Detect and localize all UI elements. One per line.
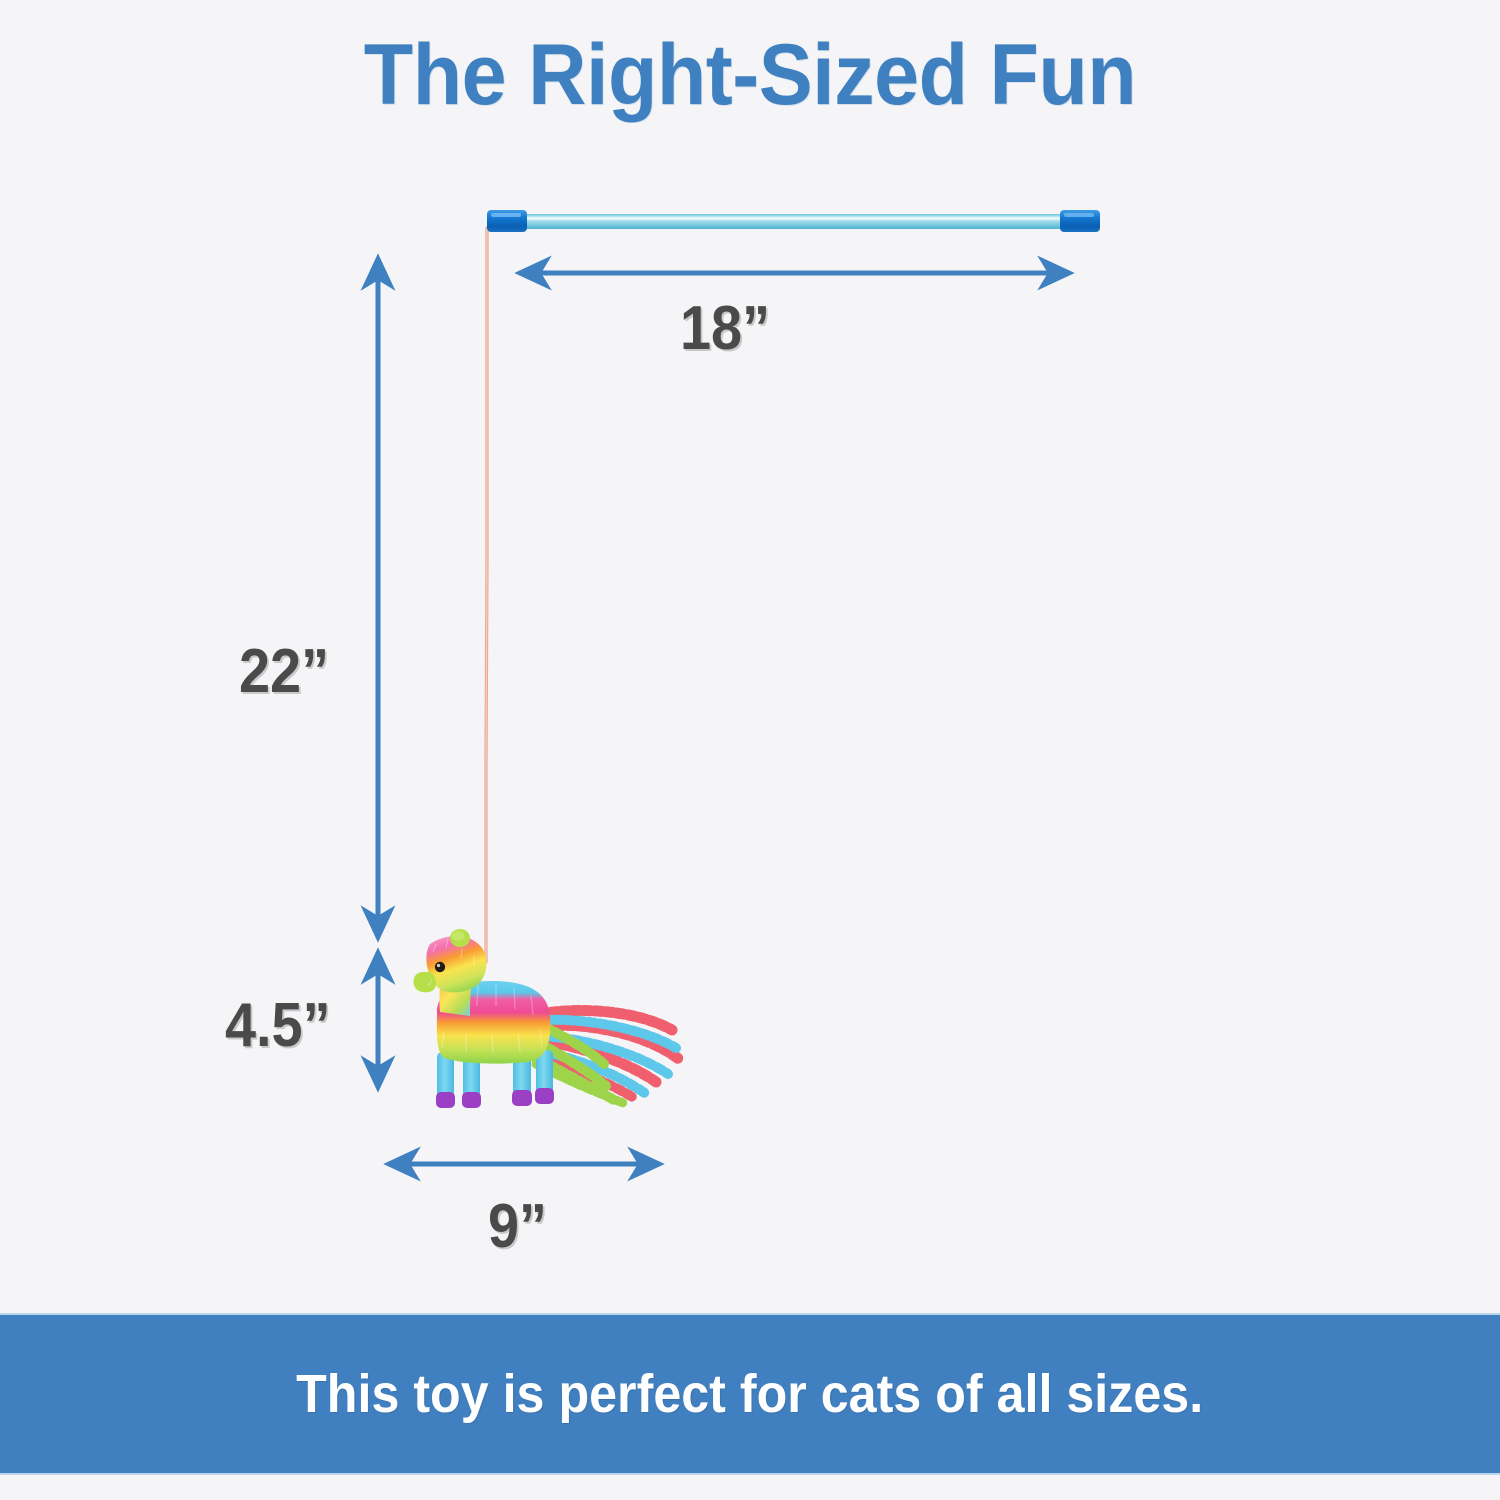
pinata-llama-plush [413, 929, 680, 1108]
dimension-arrows [0, 0, 1500, 1500]
dimension-label-22in: 22” [239, 636, 329, 707]
llama-head [426, 936, 486, 992]
product-dimensions-infographic: The Right-Sized Fun [0, 0, 1500, 1500]
llama-ear [450, 929, 470, 947]
llama-body [437, 981, 551, 1064]
llama-legs [436, 1050, 554, 1108]
llama-neck [439, 950, 476, 1016]
wand-cap-left [487, 210, 527, 232]
ribbon-tail [530, 1011, 680, 1104]
dimension-label-4-5in: 4.5” [225, 990, 330, 1061]
page-title: The Right-Sized Fun [45, 26, 1455, 125]
wand-cap-right [1060, 210, 1100, 232]
dimension-label-9in: 9” [488, 1191, 547, 1262]
llama-muzzle [413, 972, 435, 992]
banner-text: This toy is perfect for cats of all size… [296, 1363, 1203, 1425]
bottom-banner: This toy is perfect for cats of all size… [0, 1313, 1500, 1475]
wand-string [486, 228, 487, 962]
product-illustration [0, 0, 1500, 1500]
llama-eye [435, 962, 445, 972]
dimension-label-18in: 18” [680, 293, 770, 364]
teaser-wand [487, 210, 1100, 232]
